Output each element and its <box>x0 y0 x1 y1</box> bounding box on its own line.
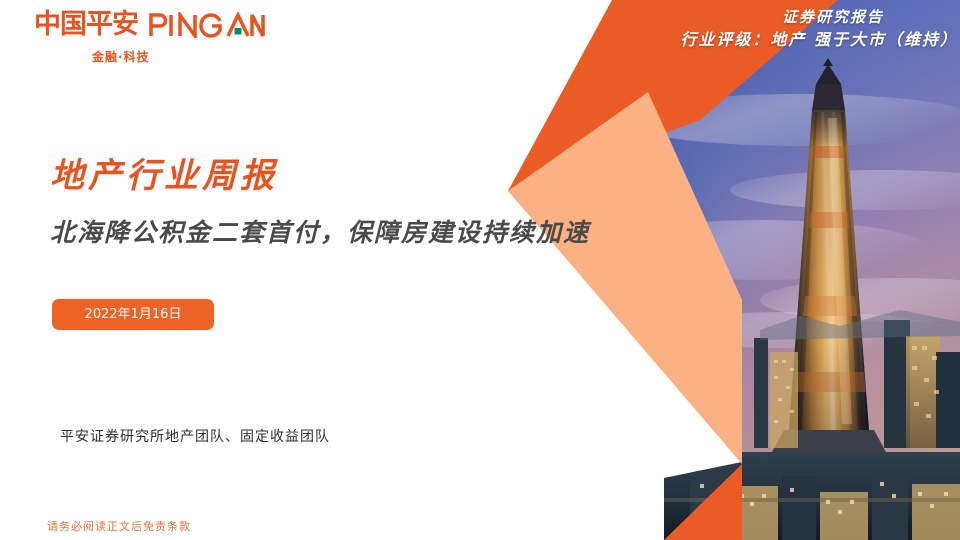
logo-tagline: 金融·科技 <box>92 48 294 65</box>
artwork-svg <box>0 0 960 540</box>
page-subtitle: 北海降公积金二套首付，保障房建设持续加速 <box>50 216 590 250</box>
report-kind-label: 证券研究报告 <box>680 6 958 28</box>
cover-artwork <box>0 0 960 540</box>
report-meta: 证券研究报告 行业评级：地产 强于大市（维持） <box>680 6 958 52</box>
logo-english-wordmark <box>148 10 266 40</box>
page-title: 地产行业周报 <box>50 155 278 197</box>
industry-rating-label: 行业评级：地产 强于大市（维持） <box>680 28 958 52</box>
ping-an-logo: 中国平安 <box>34 8 294 68</box>
logo-green-square <box>235 28 242 35</box>
logo-chinese-wordmark: 中国平安 <box>34 10 138 40</box>
publish-date-badge: 2022年1月16日 <box>52 299 214 330</box>
disclaimer-note: 请务必阅读正文后免责条款 <box>47 519 191 534</box>
research-team-label: 平安证券研究所地产团队、固定收益团队 <box>60 427 330 447</box>
report-cover-slide: 中国平安 <box>0 0 960 540</box>
logo-row: 中国平安 <box>34 8 294 42</box>
pingan-wordmark-svg <box>148 12 266 38</box>
